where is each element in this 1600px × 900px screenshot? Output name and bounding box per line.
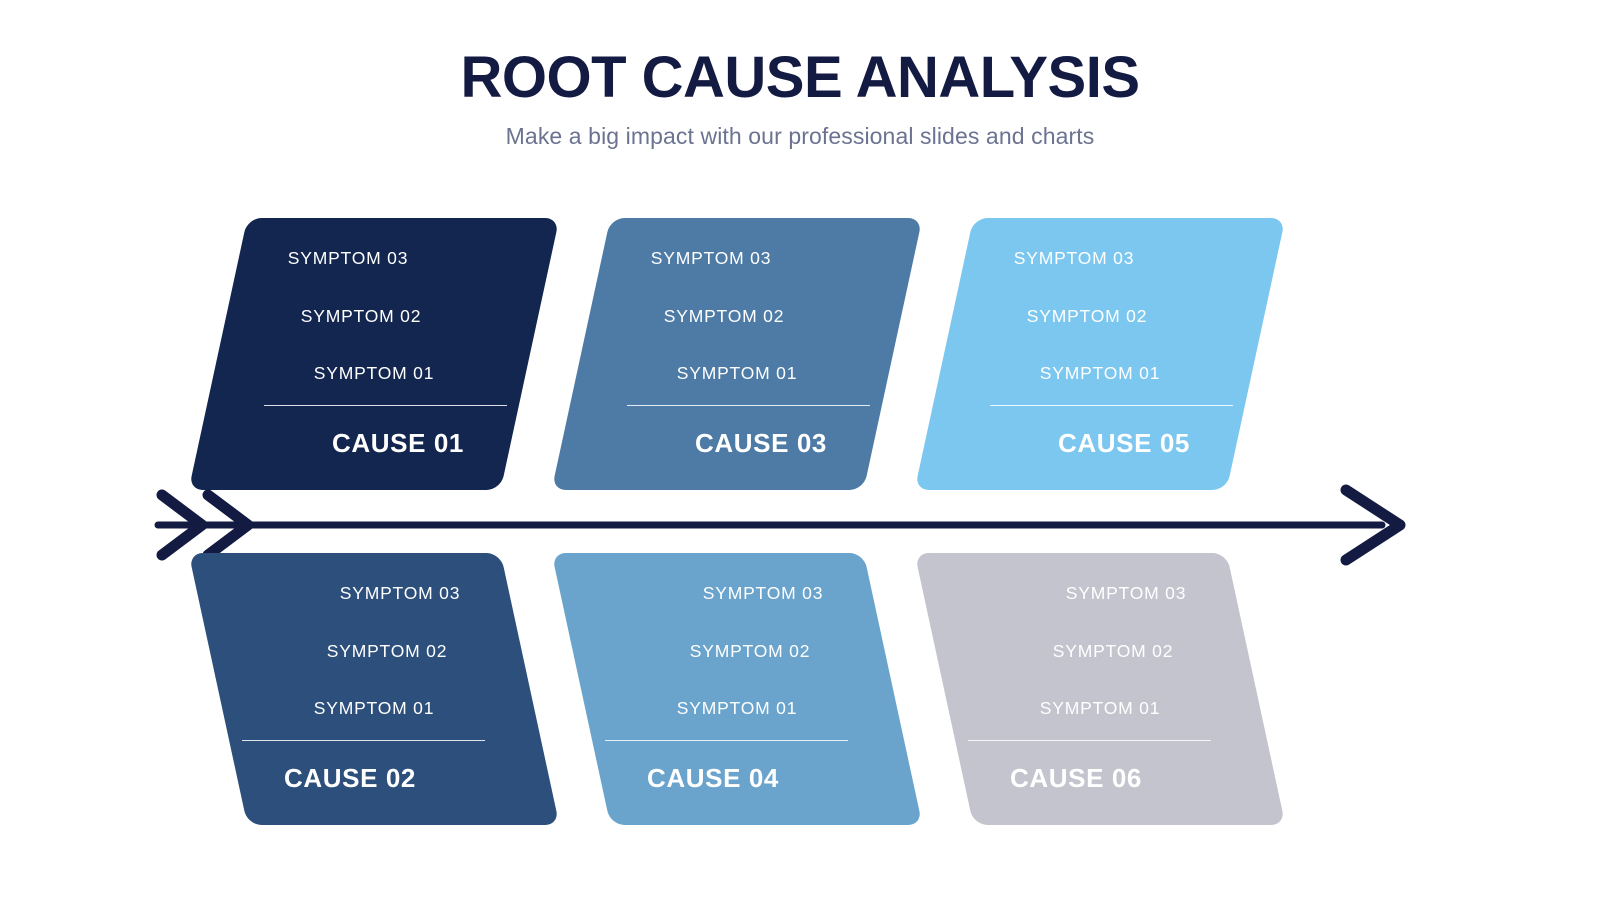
cause-label: CAUSE 02	[284, 763, 416, 794]
cause-card-02[interactable]: SYMPTOM 03 SYMPTOM 02 SYMPTOM 01 CAUSE 0…	[189, 553, 560, 825]
card-divider	[605, 740, 848, 742]
arrowhead-chevron-icon	[1346, 490, 1400, 560]
symptom-item: SYMPTOM 02	[327, 643, 448, 701]
cause-card-04[interactable]: SYMPTOM 03 SYMPTOM 02 SYMPTOM 01 CAUSE 0…	[552, 553, 923, 825]
symptom-item: SYMPTOM 01	[1040, 365, 1161, 383]
symptom-list: SYMPTOM 03 SYMPTOM 02 SYMPTOM 01	[962, 585, 1238, 718]
cause-label: CAUSE 05	[1058, 428, 1190, 459]
symptom-item: SYMPTOM 03	[340, 585, 461, 643]
cause-card-01-content: SYMPTOM 03 SYMPTOM 02 SYMPTOM 01 CAUSE 0…	[218, 218, 530, 490]
symptom-list: SYMPTOM 03 SYMPTOM 02 SYMPTOM 01	[962, 250, 1238, 383]
symptom-item: SYMPTOM 03	[1066, 585, 1187, 643]
symptom-item: SYMPTOM 01	[677, 700, 798, 718]
symptom-item: SYMPTOM 03	[651, 250, 772, 308]
cause-card-01[interactable]: SYMPTOM 03 SYMPTOM 02 SYMPTOM 01 CAUSE 0…	[189, 218, 560, 490]
card-divider	[627, 405, 870, 407]
symptom-item: SYMPTOM 01	[314, 700, 435, 718]
symptom-list: SYMPTOM 03 SYMPTOM 02 SYMPTOM 01	[236, 250, 512, 383]
cause-card-05-content: SYMPTOM 03 SYMPTOM 02 SYMPTOM 01 CAUSE 0…	[944, 218, 1256, 490]
symptom-list: SYMPTOM 03 SYMPTOM 02 SYMPTOM 01	[599, 585, 875, 718]
symptom-item: SYMPTOM 02	[301, 308, 422, 366]
symptom-item: SYMPTOM 03	[703, 585, 824, 643]
cause-card-02-content: SYMPTOM 03 SYMPTOM 02 SYMPTOM 01 CAUSE 0…	[218, 553, 530, 825]
symptom-item: SYMPTOM 01	[677, 365, 798, 383]
cause-label: CAUSE 01	[332, 428, 464, 459]
card-divider	[264, 405, 507, 407]
symptom-item: SYMPTOM 02	[1027, 308, 1148, 366]
cause-label: CAUSE 06	[1010, 763, 1142, 794]
symptom-list: SYMPTOM 03 SYMPTOM 02 SYMPTOM 01	[236, 585, 512, 718]
card-divider	[968, 740, 1211, 742]
cause-card-03-content: SYMPTOM 03 SYMPTOM 02 SYMPTOM 01 CAUSE 0…	[581, 218, 893, 490]
symptom-item: SYMPTOM 01	[1040, 700, 1161, 718]
cause-card-05[interactable]: SYMPTOM 03 SYMPTOM 02 SYMPTOM 01 CAUSE 0…	[915, 218, 1286, 490]
cause-label: CAUSE 04	[647, 763, 779, 794]
symptom-item: SYMPTOM 02	[664, 308, 785, 366]
fletching-chevron-outer-icon	[162, 495, 202, 555]
cause-card-06[interactable]: SYMPTOM 03 SYMPTOM 02 SYMPTOM 01 CAUSE 0…	[915, 553, 1286, 825]
card-divider	[990, 405, 1233, 407]
cause-card-03[interactable]: SYMPTOM 03 SYMPTOM 02 SYMPTOM 01 CAUSE 0…	[552, 218, 923, 490]
card-divider	[242, 740, 485, 742]
cause-card-04-content: SYMPTOM 03 SYMPTOM 02 SYMPTOM 01 CAUSE 0…	[581, 553, 893, 825]
symptom-item: SYMPTOM 02	[1053, 643, 1174, 701]
symptom-item: SYMPTOM 03	[1014, 250, 1135, 308]
symptom-item: SYMPTOM 01	[314, 365, 435, 383]
fishbone-diagram: SYMPTOM 03 SYMPTOM 02 SYMPTOM 01 CAUSE 0…	[0, 0, 1600, 900]
symptom-list: SYMPTOM 03 SYMPTOM 02 SYMPTOM 01	[599, 250, 875, 383]
cause-card-06-content: SYMPTOM 03 SYMPTOM 02 SYMPTOM 01 CAUSE 0…	[944, 553, 1256, 825]
symptom-item: SYMPTOM 03	[288, 250, 409, 308]
symptom-item: SYMPTOM 02	[690, 643, 811, 701]
fletching-chevron-inner-icon	[208, 495, 248, 555]
cause-label: CAUSE 03	[695, 428, 827, 459]
